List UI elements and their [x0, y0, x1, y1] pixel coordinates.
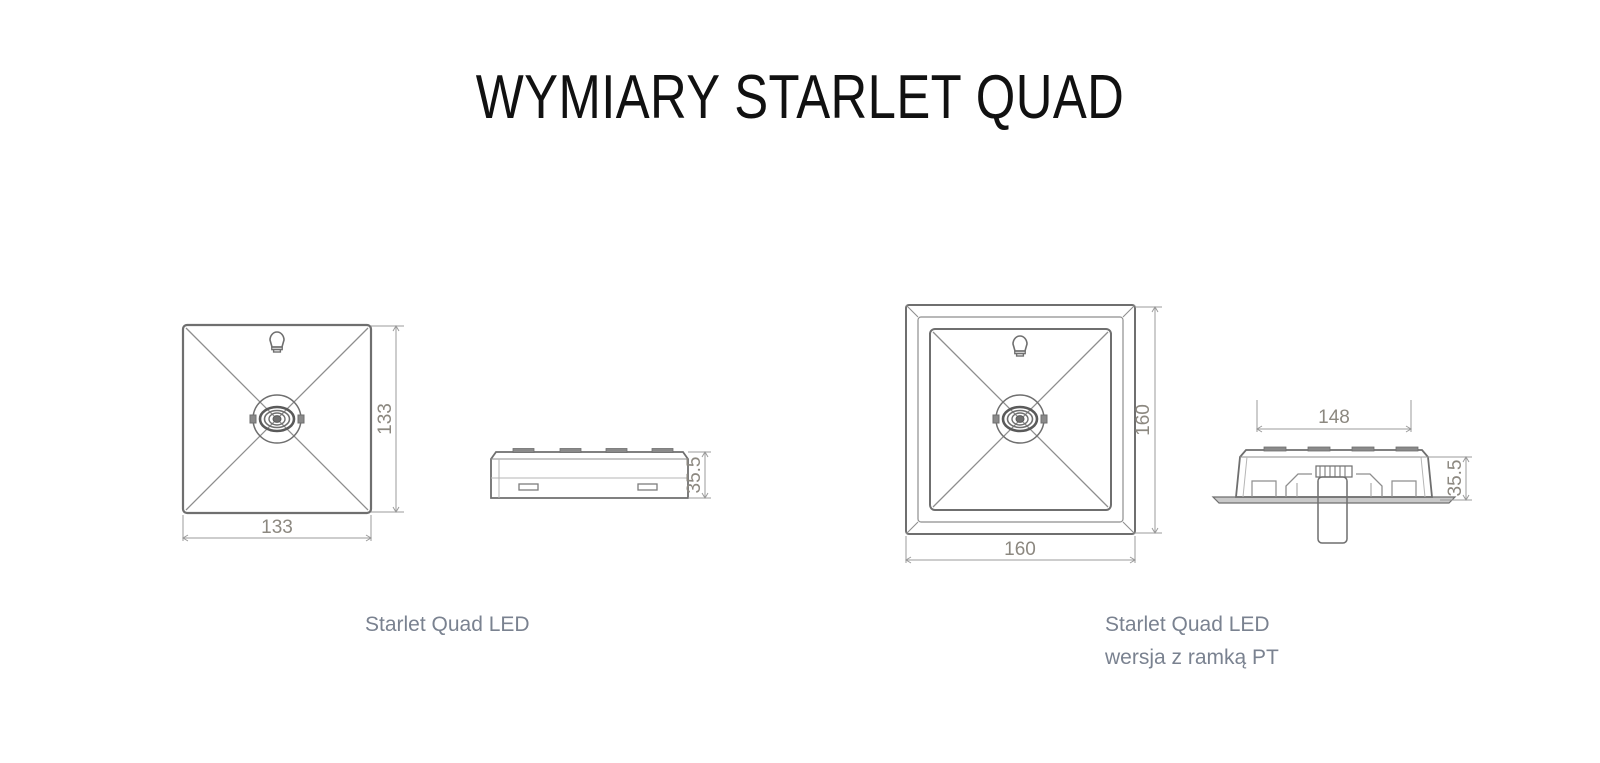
right-side-internal-block-right	[1392, 481, 1416, 497]
right-height-dimension-label: 160	[1133, 404, 1154, 436]
right-side-view	[1213, 447, 1455, 543]
right-side-internal-block-left	[1252, 481, 1276, 497]
left-width-dimension: 133	[183, 515, 371, 541]
left-side-height-dimension: 35.5	[684, 452, 711, 498]
right-caption-line-2: wersja z ramką PT	[1105, 641, 1279, 674]
right-bulb-icon	[1013, 336, 1027, 356]
right-side-height-dimension-label: 35.5	[1445, 460, 1466, 497]
right-figure-caption: Starlet Quad LED wersja z ramką PT	[1105, 608, 1279, 674]
left-bulb-icon	[270, 332, 284, 352]
left-side-height-dimension-label: 35.5	[684, 457, 705, 494]
left-caption-line-1: Starlet Quad LED	[365, 608, 530, 641]
right-height-dimension: 160	[1133, 307, 1162, 533]
right-center-lens-icon	[993, 395, 1047, 443]
left-width-dimension-label: 133	[261, 517, 293, 538]
left-height-dimension-label: 133	[375, 403, 396, 435]
right-width-dimension-label: 160	[1004, 539, 1036, 560]
right-caption-line-1: Starlet Quad LED	[1105, 608, 1279, 641]
left-height-dimension: 133	[371, 326, 404, 512]
left-side-view	[491, 449, 688, 499]
right-side-hanging-connector	[1318, 477, 1347, 543]
left-side-clips	[519, 484, 657, 490]
left-center-lens-icon	[250, 395, 304, 443]
right-side-spring-clip-left	[1286, 474, 1312, 497]
right-side-width-dimension-label: 148	[1318, 407, 1350, 428]
right-width-dimension: 160	[906, 536, 1135, 563]
dimension-drawings: 133 133 35.5	[0, 0, 1600, 763]
left-top-view	[183, 325, 371, 513]
right-side-spring-clip-right	[1356, 474, 1382, 497]
left-figure-caption: Starlet Quad LED	[365, 608, 530, 641]
right-top-view	[906, 305, 1135, 534]
right-side-width-dimension: 148	[1257, 400, 1411, 432]
right-side-ribbed-collar	[1316, 466, 1352, 477]
